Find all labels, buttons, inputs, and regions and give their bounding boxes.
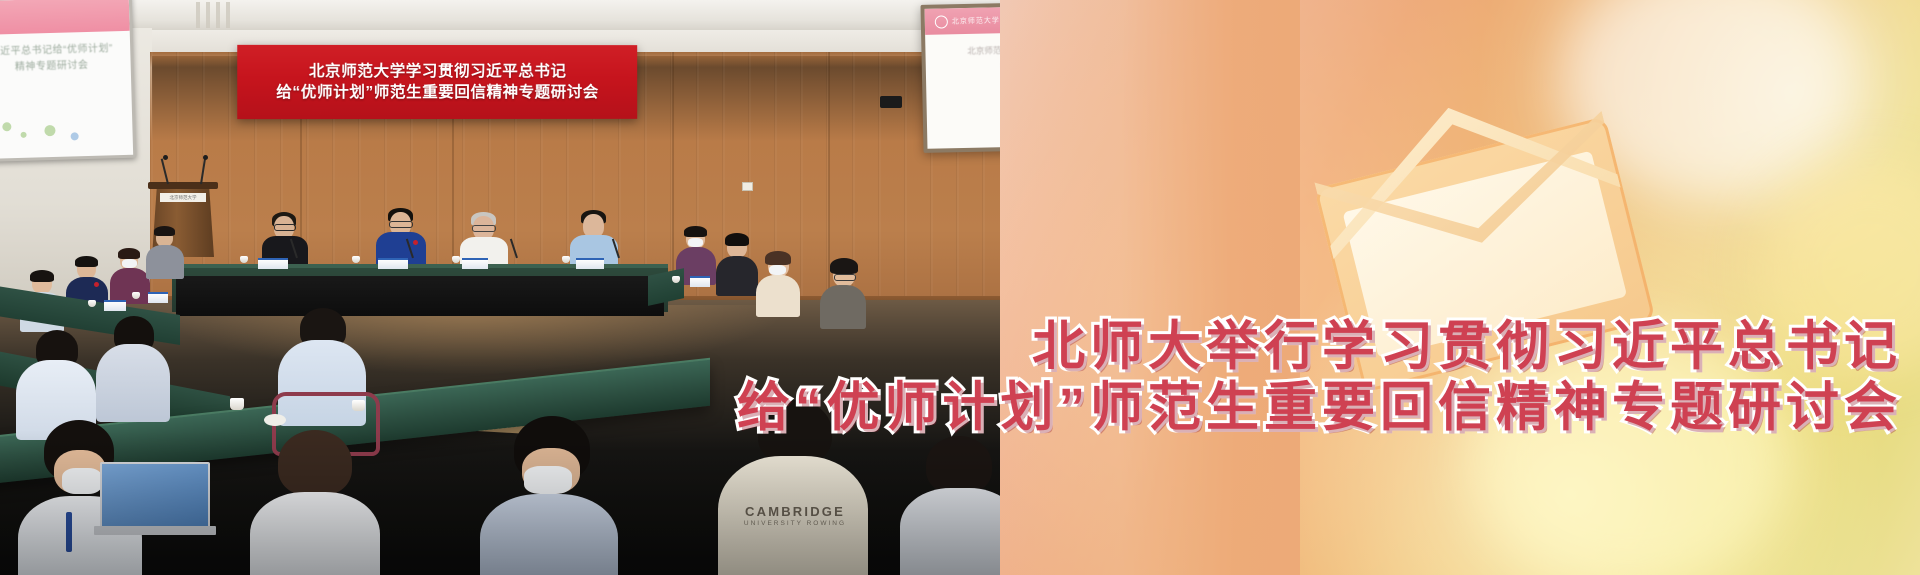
podium-microphone-head [163, 155, 168, 160]
name-plate [462, 258, 488, 269]
stage-banner-line-2: 给“优师计划”师范生重要回信精神专题研讨会 [276, 84, 599, 101]
tea-cup [230, 398, 244, 410]
ceiling-vent [196, 2, 200, 28]
attendee-back-view [96, 316, 170, 416]
face-mask [769, 265, 786, 275]
saucer [264, 414, 286, 426]
name-plate [258, 258, 288, 269]
screen-speck [20, 132, 26, 138]
attendee [110, 250, 150, 302]
eyeglasses-icon [274, 224, 296, 231]
left-screen-header-band [0, 0, 130, 35]
wall-socket [742, 182, 753, 191]
name-plate [576, 258, 604, 269]
face-mask [122, 259, 137, 268]
eyeglasses-icon [834, 274, 856, 281]
attendee [820, 262, 866, 326]
podium-microphone-head [203, 155, 208, 160]
wood-seam [672, 52, 674, 307]
ceiling-vent [226, 2, 230, 28]
wall-speaker [880, 96, 902, 108]
screen-speck [71, 132, 79, 140]
university-seal-icon [935, 15, 948, 28]
decorative-graphic-panel [1000, 0, 1920, 575]
podium-sign: 北京师范大学 [160, 193, 206, 202]
news-banner-image: 习近平总书记给“优师计划” 精神专题研讨会 北京师范大学 北京师范大学学习贯彻习… [0, 0, 1920, 575]
tea-cup [352, 400, 365, 411]
stage-banner: 北京师范大学学习贯彻习近平总书记 给“优师计划”师范生重要回信精神专题研讨会 [237, 45, 637, 119]
right-screen-logo-text: 北京师范大学 [952, 15, 1000, 26]
lapel-pin-icon [413, 240, 418, 245]
left-screen-text-line2: 精神专题研讨会 [0, 57, 127, 76]
name-plate [690, 276, 710, 287]
name-plate [148, 292, 168, 303]
glow-blob [1470, 330, 1790, 575]
left-projection-screen: 习近平总书记给“优师计划” 精神专题研讨会 [0, 0, 136, 162]
podium-top [148, 182, 218, 189]
eyeglasses-icon [389, 221, 413, 228]
attendee [146, 228, 184, 278]
attendee [716, 236, 758, 294]
attendee-back-view [16, 330, 96, 434]
ceiling-vent [216, 2, 220, 28]
ceiling-vent [206, 2, 210, 28]
eyeglasses-icon [472, 225, 496, 232]
name-plate [378, 258, 408, 269]
lapel-pin-icon [94, 282, 99, 287]
screen-speck [44, 125, 55, 136]
photo-to-graphic-fade [1000, 0, 1300, 575]
head-table-front-panel [176, 276, 664, 316]
face-mask [688, 238, 703, 247]
screen-speck [2, 122, 11, 131]
name-plate [104, 300, 126, 311]
attendee [756, 254, 800, 314]
stage-banner-line-1: 北京师范大学学习贯彻习近平总书记 [309, 63, 567, 80]
